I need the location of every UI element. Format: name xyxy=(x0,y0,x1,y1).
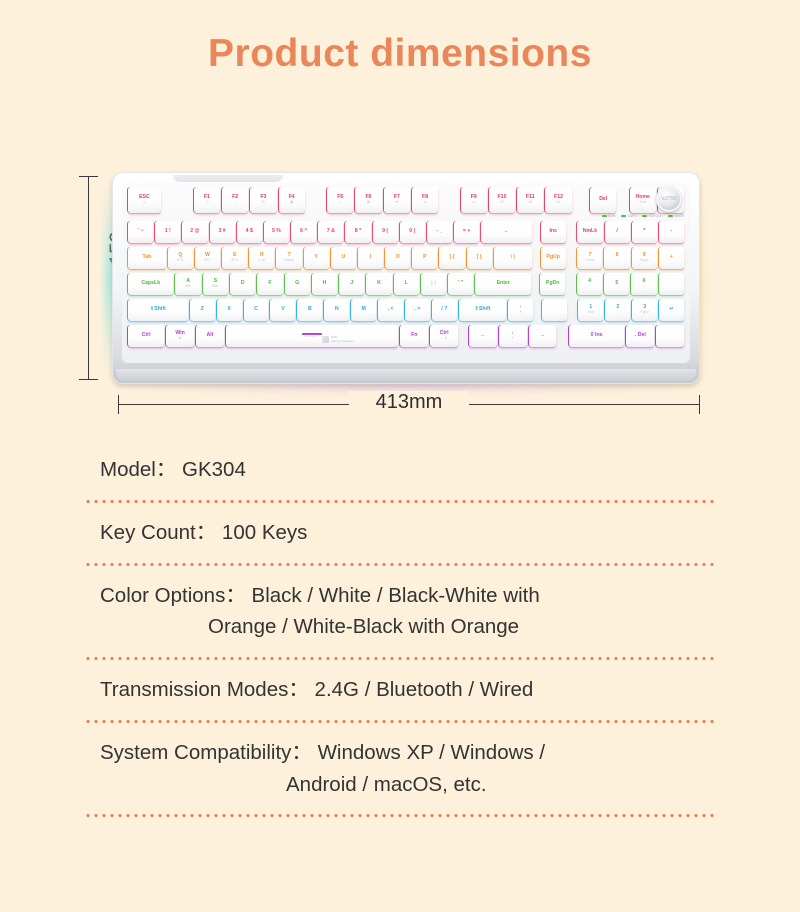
keycap-legend: \ | xyxy=(511,255,515,261)
keyboard-row: ` ~1 !2 @3 #4 $5 %6 ^7 &8 *9 (0 )- _= +←… xyxy=(122,221,690,243)
keycap[interactable]: NmLk xyxy=(577,221,602,243)
keycap-legend: 2 @ xyxy=(190,229,199,235)
keycap-legend: ↵ xyxy=(669,307,673,313)
keycap-legend: 5 % xyxy=(272,229,281,235)
page-title: Product dimensions xyxy=(0,32,800,76)
keycap[interactable]: 9PgUp xyxy=(632,247,657,269)
keycap[interactable]: 1 ! xyxy=(155,221,180,243)
keycap[interactable]: [ { xyxy=(439,247,464,269)
keycap-sublegend: ▤ xyxy=(367,201,370,205)
keycap[interactable]: = + xyxy=(454,221,479,243)
keycap-legend: H xyxy=(323,281,327,287)
specifications-list: Model： GK304Key Count： 100 KeysColor Opt… xyxy=(0,440,800,817)
keycap[interactable]: F9⏭ xyxy=(461,187,487,213)
key-gap xyxy=(163,187,192,213)
keycap[interactable]: ← xyxy=(481,221,531,243)
keycap[interactable]: K xyxy=(366,273,391,295)
keycap[interactable]: F11ὐ9 xyxy=(517,187,543,213)
keycap[interactable]: SMac xyxy=(203,273,228,295)
keycap[interactable]: X xyxy=(217,299,242,321)
keycap-sublegend: BT1 xyxy=(177,259,183,263)
keycap-sublegend: ON/OFF xyxy=(305,335,318,339)
led-label: WIN/M xyxy=(674,214,684,218)
keycap[interactable]: 0 ) xyxy=(400,221,425,243)
keycap-legend: . > xyxy=(415,307,421,313)
keyboard-row: ⇧ShiftZXCVBNM, <. >/ ?⇧Shift↑☀1End2↓3PgD… xyxy=(122,299,690,321)
keycap-sublegend: ὐ9 xyxy=(528,201,532,205)
keycap-legend: F xyxy=(268,281,271,287)
key-gap xyxy=(535,299,540,321)
keycap[interactable]: C xyxy=(244,299,269,321)
keycap-legend: I xyxy=(370,255,371,261)
keycap[interactable]: N xyxy=(324,299,349,321)
keycap-legend: 4 $ xyxy=(246,229,253,235)
keycap-legend: Fn xyxy=(411,333,417,339)
keycap[interactable]: EBT3 xyxy=(222,247,247,269)
keycap[interactable]: CapsLk xyxy=(128,273,173,295)
keycap[interactable]: F7⏮ xyxy=(384,187,410,213)
keycap-legend: ' " xyxy=(458,281,463,287)
keycap[interactable]: Tab xyxy=(128,247,166,269)
keycap-legend: Enter xyxy=(497,281,510,287)
keyboard-plate: ESC◎F1❑F2⌂F3✉F4▣F5♫F6▤F7⏮F8⏯F9⏭F10ὐ7F11ὐ… xyxy=(122,183,690,363)
led-label: CAPS xyxy=(628,214,637,218)
spec-row-model: Model： GK304 xyxy=(0,440,800,500)
keycap[interactable]: 1End xyxy=(578,299,603,321)
key-gap xyxy=(460,325,467,347)
keycap[interactable]: / ? xyxy=(432,299,457,321)
keycap-sublegend: ⏮ xyxy=(395,201,398,205)
keycap-sublegend: ὐ7 xyxy=(500,201,504,205)
keycap[interactable]: ` ~ xyxy=(128,221,153,243)
keycap[interactable]: F3✉ xyxy=(250,187,276,213)
keycap[interactable]: R2.4G xyxy=(249,247,274,269)
keycap[interactable]: 7Home xyxy=(577,247,602,269)
keycap[interactable]: F2⌂ xyxy=(222,187,248,213)
keycap[interactable]: ] } xyxy=(467,247,492,269)
keycap[interactable]: QBT1 xyxy=(168,247,193,269)
keycap[interactable]: Del xyxy=(590,187,616,213)
spec-text-color-options: Color Options： Black / White / Black-Whi… xyxy=(0,566,800,658)
keycap-legend: D xyxy=(241,281,245,287)
keycap-sublegend: Win xyxy=(185,285,191,289)
spec-text-line2: Orange / White-Black with Orange xyxy=(100,611,714,643)
led-label: NUM xyxy=(608,214,615,218)
keycap-sublegend: ⏯ xyxy=(424,201,427,205)
led-indicator: SCROLL xyxy=(642,214,661,218)
keycap-legend: 0 Ins xyxy=(591,333,603,339)
keyboard-row: TabQBT1WBT2EBT3R2.4GTWiredYUIOP[ {] }\ |… xyxy=(122,247,690,269)
spec-text-line2: Android / macOS, etc. xyxy=(100,769,714,801)
keycap[interactable]: → xyxy=(529,325,557,347)
keycap[interactable]: Ctrl xyxy=(128,325,164,347)
key-gap xyxy=(568,221,576,243)
width-dimension-label: 413mm xyxy=(349,391,469,414)
keycap[interactable]: AWin xyxy=(175,273,200,295)
brand-logo-icon: RGBGaming Keyboard xyxy=(322,336,354,343)
keycap[interactable]: WBT2 xyxy=(195,247,220,269)
spec-text-system-compatibility: System Compatibility： Windows XP / Windo… xyxy=(0,723,800,815)
keycap-legend: , < xyxy=(388,307,394,313)
keycap[interactable]: U xyxy=(331,247,356,269)
keycap[interactable]: * xyxy=(632,221,657,243)
keycap-legend: M xyxy=(361,307,365,313)
keycap[interactable]: ← xyxy=(469,325,497,347)
keycap-legend: = + xyxy=(463,229,471,235)
case-top-notch xyxy=(173,175,283,182)
keycap[interactable]: 9 ( xyxy=(373,221,398,243)
keycap[interactable]: P xyxy=(412,247,437,269)
keycap[interactable]: ↵ xyxy=(659,299,684,321)
keycap-legend: X xyxy=(227,307,230,313)
keycap-legend: Ins xyxy=(549,229,557,235)
keycap[interactable]: 5 xyxy=(604,273,629,295)
height-dimension-line xyxy=(88,176,89,380)
keycap[interactable]: 6 ^ xyxy=(291,221,316,243)
keycap-legend: 5 xyxy=(615,281,618,287)
keycap[interactable]: 3PgDn xyxy=(632,299,657,321)
keycap-legend: O xyxy=(396,255,400,261)
keycap[interactable]: G xyxy=(285,273,310,295)
keycap[interactable]: . > xyxy=(405,299,430,321)
keycap[interactable]: F1❑ xyxy=(194,187,220,213)
indicator-leds: NUMCAPSSCROLLWIN/M xyxy=(564,214,684,218)
keycap-sublegend: 2.4G xyxy=(258,259,266,263)
keycap-legend: C xyxy=(254,307,258,313)
keycap[interactable]: PgDn xyxy=(540,273,565,295)
keycap-sublegend: ❑ xyxy=(205,201,208,205)
keycap-legend: - xyxy=(671,229,673,235)
keycap-legend: 1 ! xyxy=(165,229,171,235)
keycap-legend: 9 ( xyxy=(382,229,388,235)
keycap-sublegend: End xyxy=(588,311,594,315)
keycap[interactable]: F12ὐA xyxy=(545,187,571,213)
keycap-legend: Y xyxy=(314,255,317,261)
keycap[interactable]: + xyxy=(659,247,684,269)
keycap-sublegend: BT2 xyxy=(204,259,210,263)
keycap-legend: ⇧Shift xyxy=(475,307,491,313)
keycap[interactable]: 2↓ xyxy=(605,299,630,321)
keycap[interactable]: I xyxy=(358,247,383,269)
keycap[interactable]: F8⏯ xyxy=(412,187,438,213)
keycap-legend: V xyxy=(281,307,284,313)
keycap-legend: * xyxy=(643,229,645,235)
keycap[interactable]: 0 Ins xyxy=(569,325,625,347)
keycap[interactable]: F5♫ xyxy=(327,187,353,213)
led-indicator: WIN/M xyxy=(668,214,684,218)
keycap-sublegend: PgDn xyxy=(640,311,649,315)
keycap[interactable]: Ctrl←⊙ xyxy=(430,325,458,347)
keycap[interactable]: ' " xyxy=(448,273,473,295)
spec-row-system-compatibility: System Compatibility： Windows XP / Windo… xyxy=(0,723,800,815)
dimension-tick-left xyxy=(118,395,119,414)
key-gap xyxy=(534,247,539,269)
keycap-sublegend: PgUp xyxy=(640,259,649,263)
keycap[interactable]: M xyxy=(351,299,376,321)
key-gap xyxy=(307,187,325,213)
keycap[interactable]: 8 * xyxy=(345,221,370,243)
keycap[interactable]: RGBGaming KeyboardON/OFF xyxy=(226,325,399,347)
dimension-tick-top xyxy=(79,176,98,177)
keycap[interactable]: 6→ xyxy=(631,273,656,295)
keycap-legend: Ctrl xyxy=(142,333,151,339)
dimension-tick-right xyxy=(699,395,700,414)
keycap[interactable]: V xyxy=(270,299,295,321)
spec-row-key-count: Key Count： 100 Keys xyxy=(0,503,800,563)
keycap[interactable]: D xyxy=(230,273,255,295)
keycap-legend: Alt xyxy=(206,333,213,339)
keycap[interactable]: ↑☀ xyxy=(508,299,533,321)
keycap-legend: N xyxy=(335,307,339,313)
keycap-legend: ← xyxy=(504,229,509,235)
key-gap xyxy=(618,187,627,213)
keyboard-row: ESC◎F1❑F2⌂F3✉F4▣F5♫F6▤F7⏮F8⏯F9⏭F10ὐ7F11ὐ… xyxy=(122,187,690,213)
spec-text-model: Model： GK304 xyxy=(0,440,800,500)
keycap-legend: ; : xyxy=(431,281,436,287)
case-front-lip xyxy=(116,369,696,381)
keycap-sublegend: End xyxy=(640,201,646,205)
keycap[interactable]: ; : xyxy=(421,273,446,295)
keycap[interactable]: - xyxy=(659,221,684,243)
keycap-sublegend: Home xyxy=(585,259,594,263)
keycap[interactable]: PgUp xyxy=(541,247,566,269)
keycap-sublegend: ♫ xyxy=(339,201,342,205)
keycap-legend: K xyxy=(377,281,381,287)
keycap-legend: 3 # xyxy=(218,229,225,235)
keycap-legend: ⇧Shift xyxy=(150,307,166,313)
led-label: SCROLL xyxy=(649,214,662,218)
keyboard-row: CapsLkAWinSMacDFGHJKL; :' "EnterPgDn4←56… xyxy=(122,273,690,295)
keycap-legend: B xyxy=(308,307,312,313)
keycap-legend: PgUp xyxy=(546,255,560,261)
key-gap xyxy=(574,187,588,213)
keycap[interactable]: H xyxy=(312,273,337,295)
keycap-legend: G xyxy=(295,281,299,287)
width-dimension-line: 413mm xyxy=(118,404,700,405)
keycap[interactable]: Y xyxy=(304,247,329,269)
keycap-legend: Z xyxy=(201,307,204,313)
keycap[interactable]: \ | xyxy=(494,247,532,269)
keycap-legend: ] } xyxy=(477,255,482,261)
keycap-legend: P xyxy=(423,255,426,261)
keycap[interactable]: 4← xyxy=(577,273,602,295)
keycap-legend: L xyxy=(405,281,408,287)
keycap-sublegend: ↓ xyxy=(617,311,619,315)
keycap[interactable]: L xyxy=(394,273,419,295)
key-gap xyxy=(568,247,576,269)
keycap-sublegend: ✉ xyxy=(262,201,265,205)
keycap-legend: ← xyxy=(480,333,485,339)
keycap-legend: CapsLk xyxy=(141,281,160,287)
keycap-sublegend: ⌘ xyxy=(178,337,182,341)
keycap[interactable]: F10ὐ7 xyxy=(489,187,515,213)
keycap[interactable]: F6▤ xyxy=(355,187,381,213)
keycap-legend: / xyxy=(616,229,617,235)
keyboard-image: ESC◎F1❑F2⌂F3✉F4▣F5♫F6▤F7⏮F8⏯F9⏭F10ὐ7F11ὐ… xyxy=(112,172,700,384)
keycap-legend: ` ~ xyxy=(137,229,143,235)
keycap-sublegend: ὐA xyxy=(556,201,560,205)
keycap-legend: → xyxy=(540,333,545,339)
keycap[interactable] xyxy=(542,299,567,321)
keycap-legend: NmLk xyxy=(583,229,597,235)
keycap[interactable]: O xyxy=(385,247,410,269)
keycap[interactable]: 8↑ xyxy=(604,247,629,269)
keycap[interactable]: ⇧Shift xyxy=(128,299,188,321)
keycap[interactable]: ↓☀ xyxy=(499,325,527,347)
key-gap xyxy=(440,187,458,213)
keycap-legend: + xyxy=(670,255,673,261)
keycap[interactable]: ESC◎ xyxy=(128,187,161,213)
key-gap xyxy=(558,325,566,347)
keycap[interactable]: , < xyxy=(378,299,403,321)
keycap[interactable]: B xyxy=(297,299,322,321)
keycap-sublegend: ☀ xyxy=(511,337,514,341)
keycap-legend: . Del xyxy=(635,333,646,339)
key-gap xyxy=(569,299,576,321)
keycap-legend: 0 ) xyxy=(409,229,415,235)
keycap[interactable]: ⇧Shift xyxy=(459,299,506,321)
keycap-sublegend: ▣ xyxy=(290,201,293,205)
keycap[interactable]: Enter xyxy=(475,273,531,295)
spec-row-color-options: Color Options： Black / White / Black-Whi… xyxy=(0,566,800,658)
key-gap xyxy=(534,221,539,243)
key-gap xyxy=(567,273,575,295)
keycap[interactable]: 3 # xyxy=(210,221,235,243)
keycap-sublegend: ⌂ xyxy=(234,201,236,205)
keycap-legend: J xyxy=(350,281,353,287)
keycap-legend: / ? xyxy=(441,307,447,313)
keycap-legend: 7 & xyxy=(327,229,335,235)
keycap[interactable]: / xyxy=(605,221,630,243)
dimension-tick-bottom xyxy=(79,379,98,380)
spec-text-key-count: Key Count： 100 Keys xyxy=(0,503,800,563)
key-gap xyxy=(533,273,538,295)
spec-row-transmission-modes: Transmission Modes： 2.4G / Bluetooth / W… xyxy=(0,660,800,720)
product-dimensions-page: Product dimensions 150mm ESC◎F1❑F2⌂F3✉F4… xyxy=(0,0,800,912)
keycap[interactable]: 4 $ xyxy=(237,221,262,243)
spec-text-transmission-modes: Transmission Modes： 2.4G / Bluetooth / W… xyxy=(0,660,800,720)
keycap-legend: 6 ^ xyxy=(300,229,307,235)
keycap-sublegend: ⏭ xyxy=(472,201,475,205)
keycap-sublegend: Wired xyxy=(284,259,293,263)
keycap-sublegend: ◎ xyxy=(143,201,146,205)
keycap-sublegend: ☀ xyxy=(519,311,522,315)
keycap-sublegend: BT3 xyxy=(231,259,237,263)
keycap-legend: U xyxy=(341,255,345,261)
keycap-sublegend: → xyxy=(642,285,646,289)
keycap-legend: Tab xyxy=(142,255,151,261)
spec-separator xyxy=(84,814,716,817)
keycap[interactable]: Ins xyxy=(541,221,566,243)
keycap[interactable] xyxy=(659,273,684,295)
led-indicator: CAPS xyxy=(621,214,636,218)
keycap[interactable]: Z xyxy=(190,299,215,321)
keycap[interactable]: - _ xyxy=(427,221,452,243)
keycap-legend: - _ xyxy=(436,229,442,235)
keycap-legend: PgDn xyxy=(546,281,560,287)
keycap-sublegend: ↑ xyxy=(616,259,618,263)
keyboard-case: ESC◎F1❑F2⌂F3✉F4▣F5♫F6▤F7⏮F8⏯F9⏭F10ὐ7F11ὐ… xyxy=(112,172,700,384)
volume-knob-icon: \u2756 xyxy=(656,186,682,212)
keycap[interactable]: . Del xyxy=(626,325,654,347)
keycap[interactable]: F xyxy=(257,273,282,295)
keycap-sublegend: ← xyxy=(588,285,592,289)
keycap[interactable]: Alt xyxy=(196,325,224,347)
keycap[interactable]: HomeEnd xyxy=(630,187,656,213)
keycap-sublegend: Mac xyxy=(212,285,219,289)
keycap[interactable] xyxy=(656,325,684,347)
keycap-legend: [ { xyxy=(449,255,454,261)
keycap[interactable]: 7 & xyxy=(318,221,343,243)
keycap-sublegend: ←⊙ xyxy=(441,337,447,341)
keycap[interactable]: TWired xyxy=(276,247,301,269)
keycap[interactable]: F4▣ xyxy=(279,187,305,213)
keycap[interactable]: 5 % xyxy=(264,221,289,243)
keycap-legend: Del xyxy=(599,197,607,203)
keycap-legend: 8 * xyxy=(355,229,361,235)
keycap[interactable]: J xyxy=(339,273,364,295)
keyboard-row: CtrlWin⌘AltRGBGaming KeyboardON/OFFFnCtr… xyxy=(122,325,690,347)
keycap[interactable]: Fn xyxy=(400,325,428,347)
led-indicator: NUM xyxy=(602,214,616,218)
keycap[interactable]: Win⌘ xyxy=(166,325,194,347)
keycap[interactable]: 2 @ xyxy=(182,221,207,243)
